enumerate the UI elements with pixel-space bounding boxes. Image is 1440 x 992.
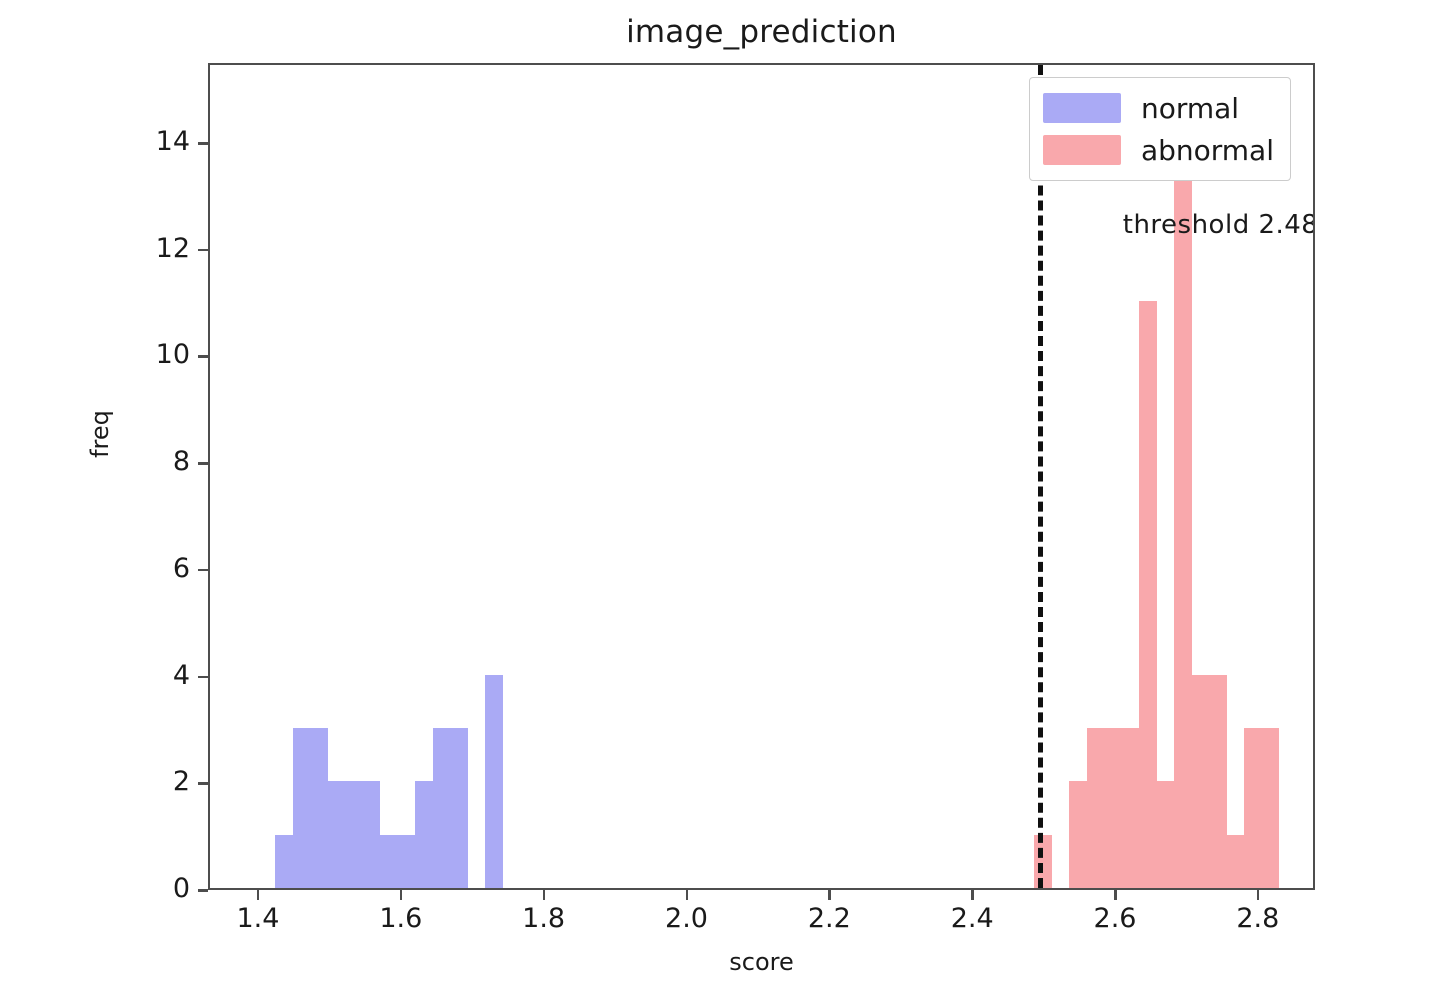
legend-swatch-normal	[1043, 93, 1121, 123]
x-tick-label: 2.6	[1055, 903, 1175, 934]
x-tick-label: 2.0	[627, 903, 747, 934]
histogram-bar-normal	[363, 781, 380, 888]
y-tick-mark	[198, 676, 208, 679]
y-tick-mark	[198, 782, 208, 785]
threshold-annotation-label: threshold 2.489	[1123, 210, 1315, 240]
histogram-bar-normal	[398, 835, 415, 888]
histogram-bar-abnormal	[1069, 781, 1086, 888]
histogram-bar-abnormal	[1262, 728, 1279, 888]
histogram-bar-normal	[328, 781, 345, 888]
x-tick-mark	[686, 890, 689, 900]
y-tick-mark	[198, 142, 208, 145]
threshold-line	[1038, 65, 1043, 888]
y-tick-label: 2	[130, 766, 190, 797]
legend: normal abnormal	[1029, 77, 1291, 181]
x-tick-label: 1.8	[484, 903, 604, 934]
y-tick-label: 10	[130, 339, 190, 370]
x-tick-label: 1.6	[341, 903, 461, 934]
x-axis-label: score	[208, 948, 1315, 976]
y-tick-label: 14	[130, 126, 190, 157]
y-tick-label: 4	[130, 660, 190, 691]
matplotlib-figure: image_prediction threshold 2.489 normal …	[0, 0, 1440, 992]
histogram-bars	[210, 65, 1313, 888]
x-tick-mark	[257, 890, 260, 900]
histogram-bar-abnormal	[1104, 728, 1121, 888]
legend-item-normal: normal	[1043, 87, 1274, 129]
histogram-bar-normal	[450, 728, 467, 888]
y-tick-mark	[198, 355, 208, 358]
y-axis-label: freq	[86, 374, 114, 494]
histogram-bar-abnormal	[1139, 301, 1156, 888]
y-tick-mark	[198, 462, 208, 465]
histogram-bar-abnormal	[1122, 728, 1139, 888]
y-tick-label: 0	[130, 873, 190, 904]
histogram-bar-abnormal	[1244, 728, 1261, 888]
histogram-bar-normal	[380, 835, 397, 888]
x-tick-label: 2.8	[1198, 903, 1318, 934]
legend-label-normal: normal	[1141, 92, 1239, 125]
histogram-bar-abnormal	[1157, 781, 1174, 888]
y-tick-label: 8	[130, 446, 190, 477]
histogram-bar-normal	[275, 835, 292, 888]
x-tick-mark	[400, 890, 403, 900]
plot-area: threshold 2.489 normal abnormal	[208, 63, 1315, 890]
legend-label-abnormal: abnormal	[1141, 134, 1274, 167]
histogram-bar-normal	[415, 781, 432, 888]
x-tick-mark	[1257, 890, 1260, 900]
y-tick-mark	[198, 569, 208, 572]
x-tick-mark	[971, 890, 974, 900]
histogram-bar-abnormal	[1192, 675, 1209, 888]
x-tick-mark	[1114, 890, 1117, 900]
histogram-bar-normal	[485, 675, 502, 888]
histogram-bar-abnormal	[1209, 675, 1226, 888]
y-tick-mark	[198, 889, 208, 892]
legend-swatch-abnormal	[1043, 135, 1121, 165]
histogram-bar-normal	[433, 728, 450, 888]
histogram-bar-normal	[345, 781, 362, 888]
legend-item-abnormal: abnormal	[1043, 129, 1274, 171]
y-tick-label: 12	[130, 233, 190, 264]
y-tick-label: 6	[130, 553, 190, 584]
x-tick-mark	[828, 890, 831, 900]
x-tick-label: 2.4	[912, 903, 1032, 934]
histogram-bar-abnormal	[1087, 728, 1104, 888]
x-tick-label: 1.4	[198, 903, 318, 934]
x-tick-mark	[543, 890, 546, 900]
histogram-bar-abnormal	[1174, 88, 1191, 888]
page-title: image_prediction	[208, 14, 1315, 50]
histogram-bar-abnormal	[1227, 835, 1244, 888]
histogram-bar-normal	[310, 728, 327, 888]
y-tick-mark	[198, 249, 208, 252]
histogram-bar-normal	[293, 728, 310, 888]
x-tick-label: 2.2	[769, 903, 889, 934]
